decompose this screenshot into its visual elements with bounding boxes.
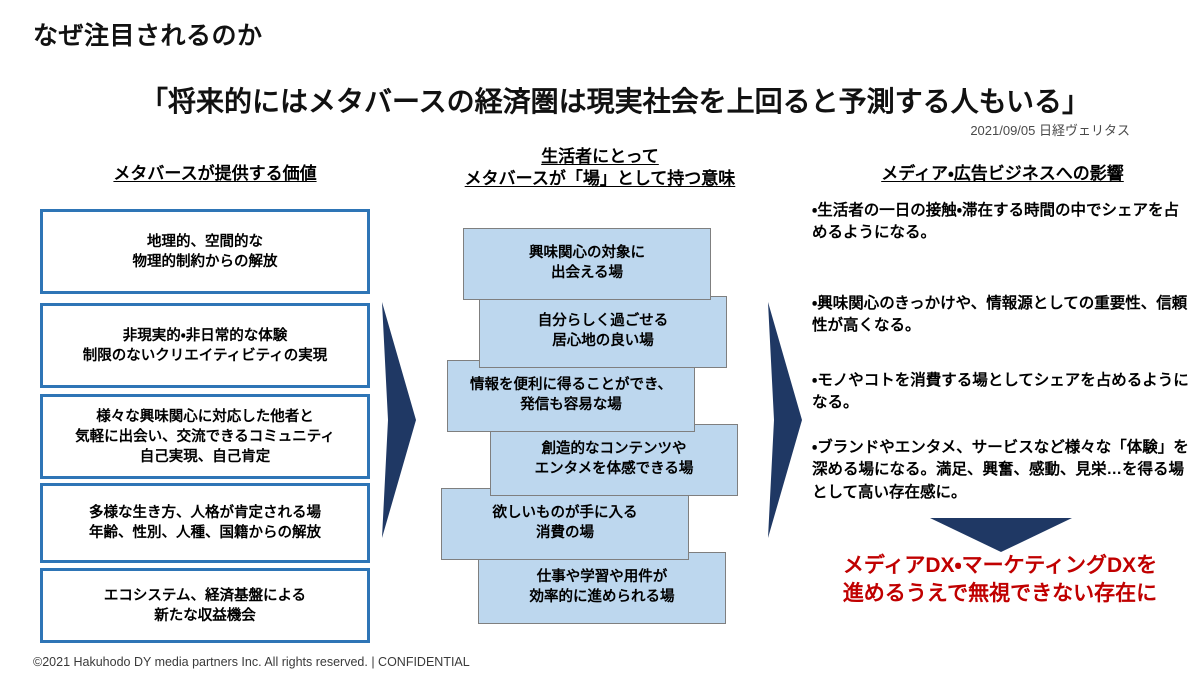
column-heading-right-text: メディア・広告ビジネスへの影響 <box>881 164 1124 183</box>
meaning-box: 創造的なコンテンツや エンタメを体感できる場 <box>490 424 738 496</box>
column-heading-middle: 生活者にとって メタバースが「場」として持つ意味 <box>425 146 775 190</box>
meaning-box: 興味関心の対象に 出会える場 <box>463 228 711 300</box>
meaning-box: 自分らしく過ごせる 居心地の良い場 <box>479 296 727 368</box>
value-box-line: 多様な生き方、人格が肯定される場 <box>89 503 321 523</box>
value-box: 多様な生き方、人格が肯定される場 年齢、性別、人種、国籍からの解放 <box>40 483 370 563</box>
value-box: エコシステム、経済基盤による 新たな収益機会 <box>40 568 370 643</box>
chevron-right-icon <box>766 302 804 538</box>
meaning-box-line: 興味関心の対象に <box>529 244 645 264</box>
value-box-line: 非現実的・非日常的な体験 <box>83 326 327 346</box>
meaning-box-line: 情報を便利に得ることができ、 <box>470 376 672 396</box>
value-box: 地理的、空間的な 物理的制約からの解放 <box>40 209 370 294</box>
meaning-box: 情報を便利に得ることができ、 発信も容易な場 <box>447 360 695 432</box>
column-heading-middle-line1: 生活者にとって <box>541 147 659 166</box>
value-box-line: 地理的、空間的な <box>133 232 278 252</box>
headline-quote: 「将来的にはメタバースの経済圏は現実社会を上回ると予測する人もいる」 <box>140 80 1140 120</box>
value-box-line: 制限のないクリエイティビティの実現 <box>83 346 327 366</box>
column-heading-left: メタバースが提供する価値 <box>35 163 395 185</box>
value-box-line: 年齢、性別、人種、国籍からの解放 <box>89 523 321 543</box>
value-box-line: 物理的制約からの解放 <box>133 252 278 272</box>
impact-paragraph: ・ブランドやエンタメ、サービスなど様々な「体験」を深める場になる。満足、興奮、感… <box>812 437 1194 504</box>
value-box-line: 新たな収益機会 <box>104 606 306 626</box>
value-box-line: 自己実現、自己肯定 <box>75 447 335 467</box>
conclusion-line: 進めるうえで無視できない存在に <box>800 580 1200 608</box>
source-attribution: 2021/09/05 日経ヴェリタス <box>970 120 1130 139</box>
meaning-box-line: 創造的なコンテンツや <box>535 440 694 460</box>
chevron-right-icon <box>380 302 418 538</box>
conclusion-line: メディアDX・マーケティングDXを <box>800 552 1200 580</box>
column-heading-left-text: メタバースが提供する価値 <box>113 164 316 183</box>
page-title: なぜ注目されるのか <box>33 16 263 52</box>
meaning-box-line: 効率的に進められる場 <box>530 588 675 608</box>
value-box-line: 気軽に出会い、交流できるコミュニティ <box>75 427 335 447</box>
meaning-box-line: 居心地の良い場 <box>538 332 669 352</box>
column-heading-right: メディア・広告ビジネスへの影響 <box>810 163 1195 185</box>
impact-paragraph: ・興味関心のきっかけや、情報源としての重要性、信頼性が高くなる。 <box>812 293 1194 338</box>
value-box-line: 様々な興味関心に対応した他者と <box>75 407 335 427</box>
meaning-box-line: 自分らしく過ごせる <box>538 312 669 332</box>
slide-canvas: なぜ注目されるのか 「将来的にはメタバースの経済圏は現実社会を上回ると予測する人… <box>0 0 1200 678</box>
column-heading-middle-line2: メタバースが「場」として持つ意味 <box>465 169 736 188</box>
meaning-box: 欲しいものが手に入る 消費の場 <box>441 488 689 560</box>
meaning-box-line: 発信も容易な場 <box>470 396 672 416</box>
meaning-box: 仕事や学習や用件が 効率的に進められる場 <box>478 552 726 624</box>
value-box-line: エコシステム、経済基盤による <box>104 586 306 606</box>
meaning-box-line: 消費の場 <box>493 524 638 544</box>
conclusion-statement: メディアDX・マーケティングDXを 進めるうえで無視できない存在に <box>800 552 1200 608</box>
meaning-box-line: 仕事や学習や用件が <box>530 568 675 588</box>
meaning-box-line: 出会える場 <box>529 264 645 284</box>
value-box: 様々な興味関心に対応した他者と 気軽に出会い、交流できるコミュニティ 自己実現、… <box>40 394 370 479</box>
impact-paragraph: ・生活者の一日の接触・滞在する時間の中でシェアを占めるようになる。 <box>812 200 1194 245</box>
footer-copyright: ©2021 Hakuhodo DY media partners Inc. Al… <box>33 655 470 669</box>
triangle-down-icon <box>930 518 1072 552</box>
impact-paragraph: ・モノやコトを消費する場としてシェアを占めるようになる。 <box>812 370 1194 415</box>
meaning-box-line: エンタメを体感できる場 <box>535 460 694 480</box>
value-box: 非現実的・非日常的な体験 制限のないクリエイティビティの実現 <box>40 303 370 388</box>
meaning-box-line: 欲しいものが手に入る <box>493 504 638 524</box>
